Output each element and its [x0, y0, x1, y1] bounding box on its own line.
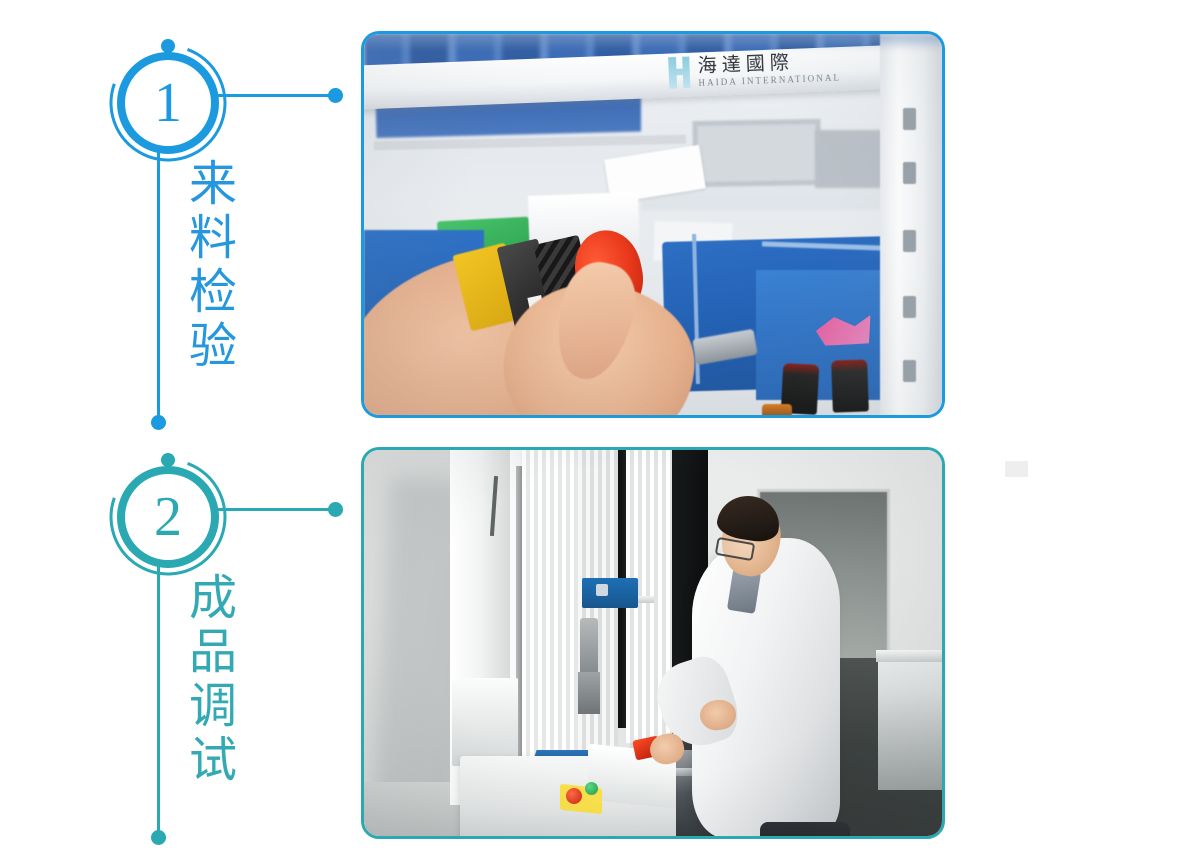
step-1-photo-canvas: 海達國際 HAIDA INTERNATIONAL	[364, 34, 942, 415]
step-2-label: 成品调试	[172, 572, 242, 788]
background-artifact	[1005, 461, 1028, 477]
step-1-photo[interactable]: 海達國際 HAIDA INTERNATIONAL	[361, 31, 945, 418]
step-2-spine-dot	[151, 830, 166, 845]
step-2-photo[interactable]	[361, 447, 945, 839]
step-2-photo-canvas	[364, 450, 942, 836]
step-1-connector-dot	[328, 88, 343, 103]
step-2-badge[interactable]: 2	[117, 466, 219, 568]
step-1-spine-dot	[151, 415, 166, 430]
step-2-spine-line	[157, 566, 160, 834]
photo-1-vignette	[364, 34, 942, 415]
photo-2-vignette	[364, 450, 942, 836]
step-2-number: 2	[154, 489, 182, 545]
step-2-connector-dot	[328, 502, 343, 517]
step-1-number: 1	[154, 75, 182, 131]
step-2-arc-dot	[161, 453, 175, 467]
step-2-connector-line	[212, 508, 340, 511]
step-1-connector-line	[212, 94, 340, 97]
step-1-arc-dot	[161, 39, 175, 53]
step-1-label: 来料检验	[172, 158, 242, 374]
step-1-spine-line	[157, 152, 160, 420]
process-steps-page: 1 来料检验 海達國際	[0, 0, 1199, 856]
step-1-badge[interactable]: 1	[117, 52, 219, 154]
